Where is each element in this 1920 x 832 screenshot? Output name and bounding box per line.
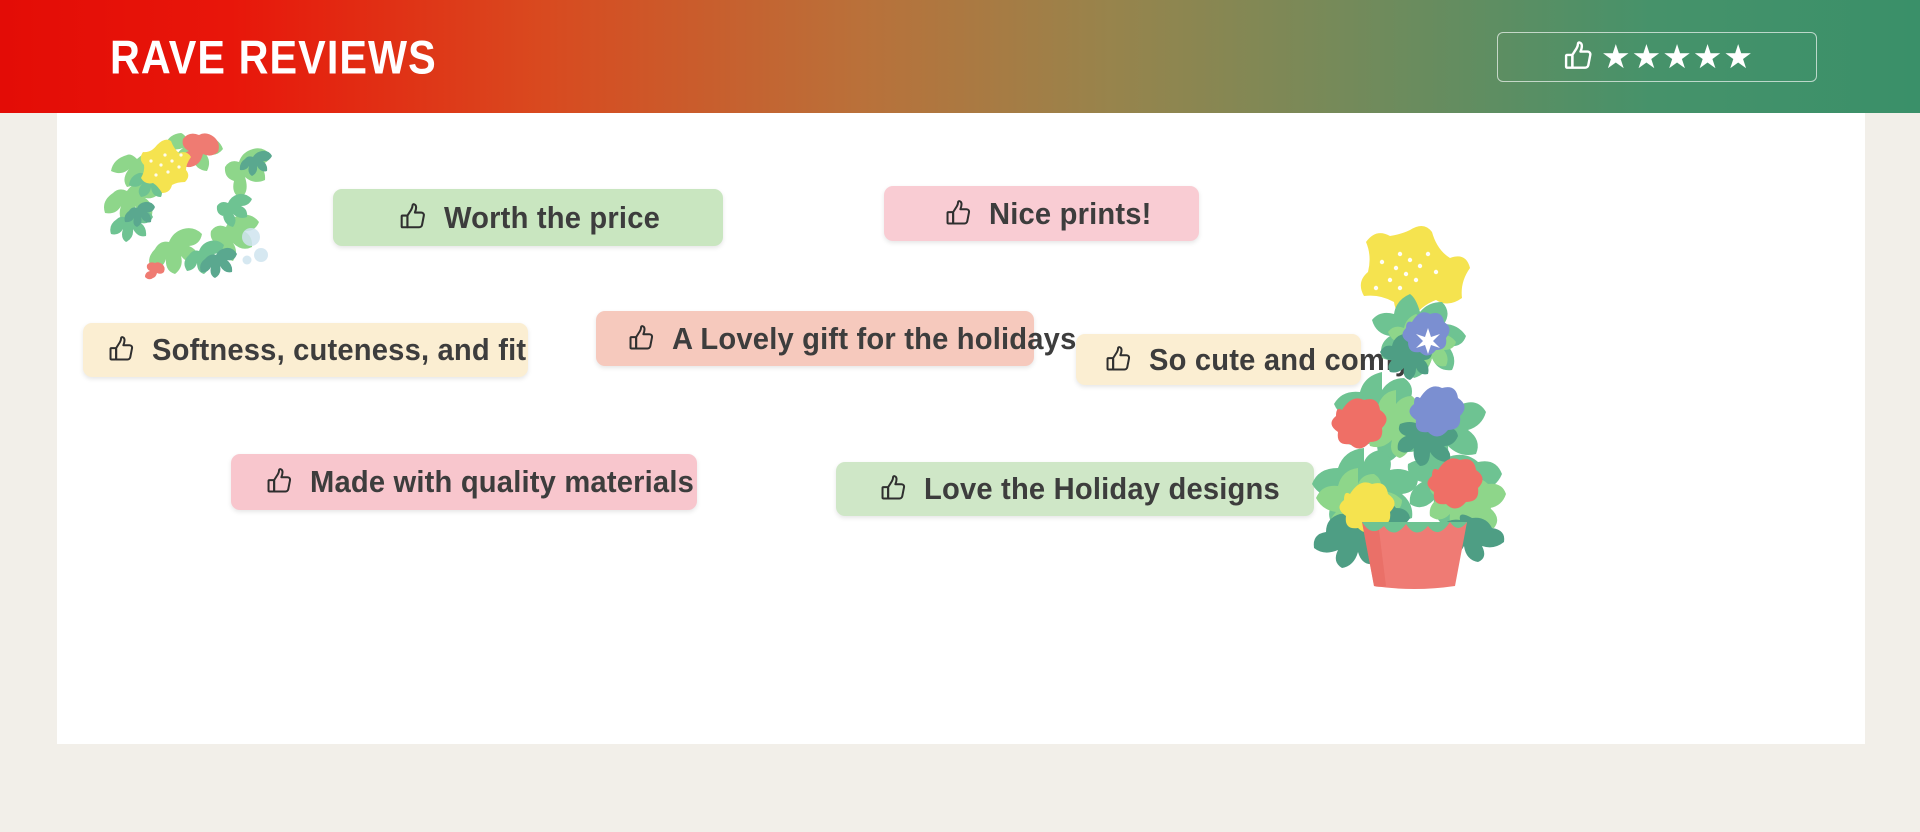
review-tag[interactable]: Made with quality materials — [231, 454, 697, 510]
star-icon: ★ — [1662, 40, 1692, 73]
review-tag-label: Love the Holiday designs — [924, 471, 1280, 507]
header-bar: RAVE REVIEWS ★ ★ ★ ★ ★ — [0, 0, 1920, 113]
thumbs-up-icon — [264, 466, 296, 498]
review-tag-label: Worth the price — [444, 200, 660, 236]
star-icon: ★ — [1601, 40, 1631, 73]
star-icon: ★ — [1693, 40, 1723, 73]
page-title: RAVE REVIEWS — [110, 29, 437, 84]
review-tag[interactable]: Love the Holiday designs — [836, 462, 1314, 516]
thumbs-up-icon — [1103, 344, 1135, 376]
review-tag[interactable]: Worth the price — [333, 189, 723, 246]
tree-pot — [1362, 522, 1467, 589]
thumbs-up-icon — [943, 198, 975, 230]
review-tag[interactable]: A Lovely gift for the holidays — [596, 311, 1034, 366]
star-icon: ★ — [1723, 40, 1753, 73]
thumbs-up-icon — [626, 323, 658, 355]
star-icon: ★ — [1632, 40, 1662, 73]
thumbs-up-icon — [397, 201, 430, 234]
review-tag-label: A Lovely gift for the holidays — [672, 321, 1076, 357]
star-rating: ★ ★ ★ ★ ★ — [1601, 40, 1753, 73]
review-tag[interactable]: Nice prints! — [884, 186, 1199, 241]
review-tag-label: Nice prints! — [989, 196, 1152, 232]
coral-wreath-illustration — [93, 115, 288, 285]
thumbs-up-icon — [106, 334, 138, 366]
thumbs-up-icon — [1561, 39, 1597, 75]
review-tag-label: Made with quality materials — [310, 464, 694, 500]
thumbs-up-icon — [878, 473, 910, 505]
coral-christmas-tree-illustration — [1312, 222, 1517, 589]
review-tag[interactable]: Softness, cuteness, and fit — [83, 323, 528, 377]
rating-badge[interactable]: ★ ★ ★ ★ ★ — [1497, 32, 1817, 82]
review-tag-label: Softness, cuteness, and fit — [152, 332, 526, 368]
